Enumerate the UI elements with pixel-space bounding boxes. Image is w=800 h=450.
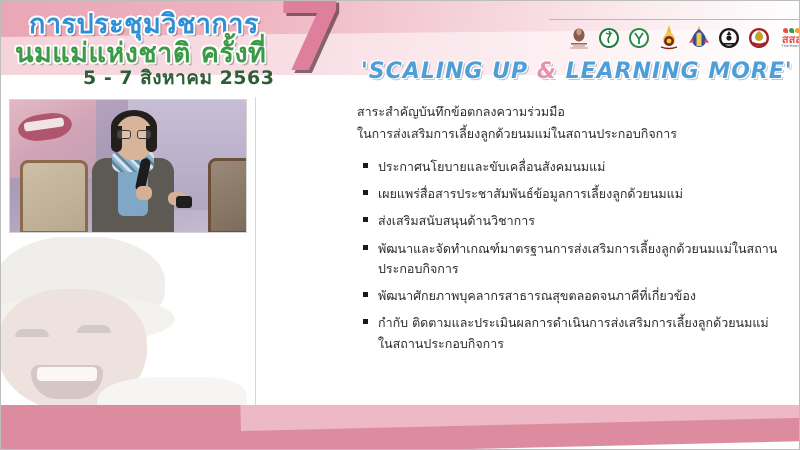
speaker-presentation-photo: [9, 99, 247, 233]
speaker-glasses-right-lens: [137, 130, 151, 139]
list-item: กำกับ ติดตามและประเมินผลการดำเนินการส่งเ…: [363, 313, 779, 354]
thaihealth-logo-sublabel: ThaiHealth: [781, 45, 800, 49]
thaihealth-logo-label: สสส ThaiHealth: [781, 34, 800, 49]
black-circle-emblem-logo: [717, 25, 741, 51]
header-divider-rule: [549, 19, 800, 20]
list-item: ประกาศนโยบายและขับเคลื่อนสังคมนมแม่: [363, 157, 779, 177]
child-eye-right: [77, 325, 111, 333]
royal-emblem-logo: [567, 25, 591, 51]
list-item: ส่งเสริมสนับสนุนด้านวิชาการ: [363, 211, 779, 231]
child-teeth: [37, 367, 97, 381]
content-bullet-list: ประกาศนโยบายและขับเคลื่อนสังคมนมแม่ เผยแ…: [269, 157, 779, 354]
royal-crown-emblem-logo: [657, 25, 681, 51]
conference-edition-number: 7: [277, 1, 344, 85]
chair-left: [20, 160, 88, 233]
content-intro-line-1: สาระสำคัญบันทึกข้อตกลงความร่วมมือ: [357, 101, 779, 123]
speaker-hand-holding-mic: [136, 186, 152, 200]
ministry-public-health-logo: [597, 25, 621, 51]
garuda-emblem-logo: [687, 25, 711, 51]
handheld-device: [176, 196, 192, 208]
child-watermark-photo: [1, 237, 247, 423]
list-item: เผยแพร่สื่อสารประชาสัมพันธ์ข้อมูลการเลี้…: [363, 184, 779, 204]
slide-header-banner: การประชุมวิชาการ นมแม่แห่งชาติ ครั้งที่ …: [1, 1, 800, 93]
slogan-suffix: LEARNING MORE': [557, 59, 793, 84]
slogan-prefix: 'SCALING UP: [361, 59, 537, 84]
list-item: พัฒนาศักยภาพบุคลากรสาธารณสุขตลอดจนภาคีที…: [363, 286, 779, 306]
conference-slogan: 'SCALING UP & LEARNING MORE': [361, 59, 793, 84]
department-health-logo: [627, 25, 651, 51]
content-vertical-divider: [255, 97, 256, 427]
child-eye-left: [15, 329, 49, 337]
red-circle-emblem-logo: [747, 25, 771, 51]
presentation-slide: การประชุมวิชาการ นมแม่แห่งชาติ ครั้งที่ …: [0, 0, 800, 450]
footer-pink-band: [1, 405, 800, 449]
content-intro-line-2: ในการส่งเสริมการเลี้ยงลูกด้วยนมแม่ในสถาน…: [357, 123, 779, 145]
list-item: พัฒนาและจัดทำเกณฑ์มาตรฐานการส่งเสริมการเ…: [363, 239, 779, 280]
chair-right: [208, 158, 247, 233]
thaihealth-sss-logo: สสส ThaiHealth: [777, 25, 800, 51]
slide-content-area: สาระสำคัญบันทึกข้อตกลงความร่วมมือ ในการส…: [269, 101, 779, 421]
partner-logo-strip: สสส ThaiHealth: [567, 25, 800, 51]
slogan-ampersand: &: [537, 59, 557, 84]
content-intro-block: สาระสำคัญบันทึกข้อตกลงความร่วมมือ ในการส…: [269, 101, 779, 145]
speaker-glasses-left-lens: [117, 130, 131, 139]
conference-date: 5 - 7 สิงหาคม 2563: [83, 63, 274, 93]
